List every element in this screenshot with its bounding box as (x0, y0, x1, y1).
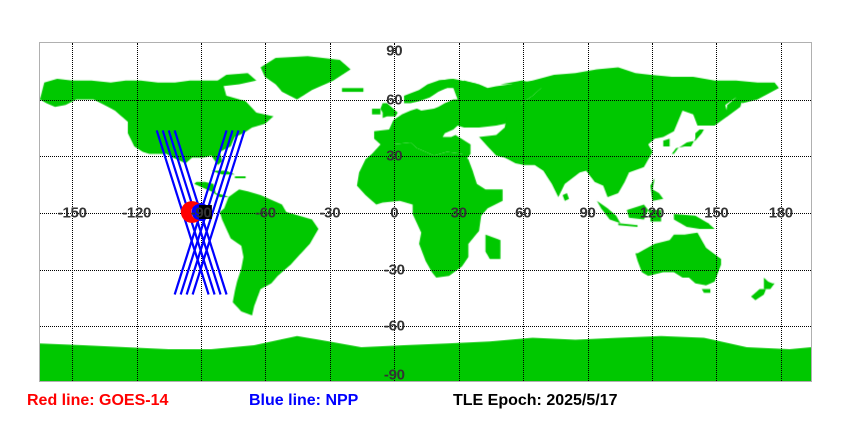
longitude-tick-label: -120 (122, 206, 151, 221)
legend-red-line: Red line: GOES-14 (27, 391, 168, 411)
gridline-parallel (40, 100, 811, 101)
legend-tle-epoch: TLE Epoch: 2025/5/17 (453, 391, 618, 411)
world-map-landmass (40, 43, 811, 381)
latitude-tick-label: -30 (384, 262, 405, 277)
longitude-tick-label: -60 (255, 206, 276, 221)
gridline-parallel (40, 326, 811, 327)
longitude-tick-label: 90 (579, 206, 595, 221)
map-frame: -300306090120150180-150-120-90-60906030-… (39, 42, 812, 382)
longitude-tick-label: -150 (58, 206, 87, 221)
latitude-tick-label: -90 (384, 368, 405, 383)
gridline-parallel (40, 213, 811, 214)
legend: Red line: GOES-14 Blue line: NPP TLE Epo… (0, 388, 850, 418)
latitude-tick-label: 60 (386, 92, 402, 107)
longitude-tick-label: 120 (640, 206, 664, 221)
longitude-tick-label: -90 (191, 206, 212, 221)
latitude-tick-label: -60 (384, 319, 405, 334)
longitude-tick-label: 180 (769, 206, 793, 221)
longitude-tick-label: 30 (451, 206, 467, 221)
latitude-tick-label: 30 (386, 149, 402, 164)
gridline-parallel (40, 156, 811, 157)
longitude-tick-label: -30 (319, 206, 340, 221)
longitude-tick-label: 0 (390, 206, 398, 221)
gridline-parallel (40, 270, 811, 271)
satellite-ground-track-map: -300306090120150180-150-120-90-60906030-… (0, 0, 850, 425)
longitude-tick-label: 150 (704, 206, 728, 221)
longitude-tick-label: 60 (515, 206, 531, 221)
latitude-tick-label: 90 (386, 44, 402, 59)
legend-blue-line: Blue line: NPP (249, 391, 358, 411)
